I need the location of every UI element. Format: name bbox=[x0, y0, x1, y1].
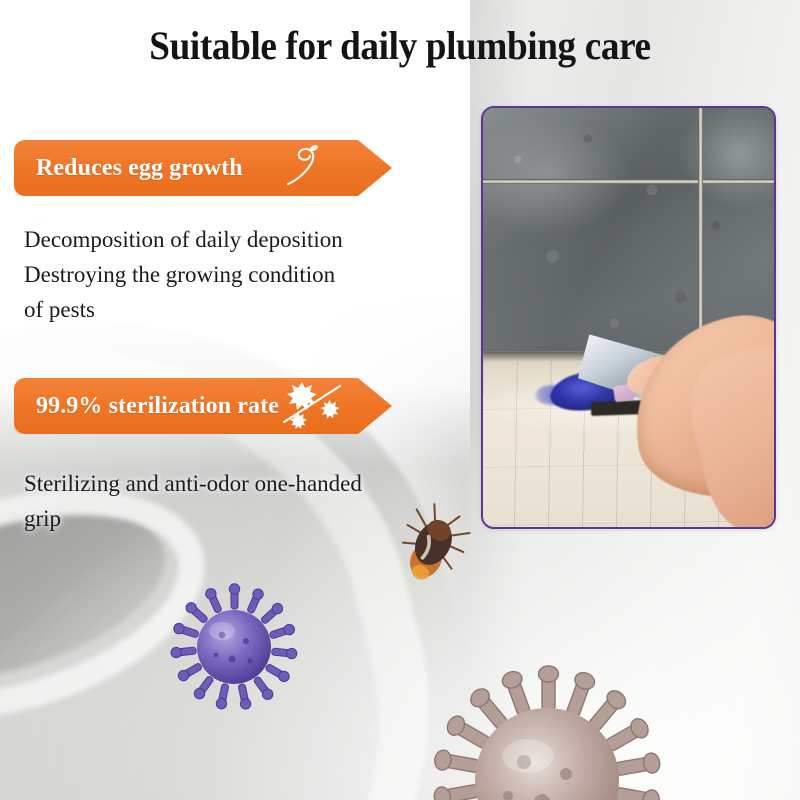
feature-banner-2-label: 99.9% sterilization rate bbox=[14, 393, 279, 420]
feature-banner-2: 99.9% sterilization rate bbox=[14, 378, 392, 434]
photo-inner bbox=[483, 108, 774, 527]
feature-description-2: Sterilizing and anti-odor one-handed gri… bbox=[24, 466, 364, 536]
horizontal-grout-line bbox=[483, 179, 774, 184]
product-usage-photo bbox=[481, 106, 776, 529]
feature-description-1: Decomposition of daily deposition Destro… bbox=[24, 222, 354, 327]
virus-particle-tan bbox=[432, 662, 662, 800]
feature-banner-1-label: Reduces egg growth bbox=[14, 155, 243, 182]
feature-banner-1: Reduces egg growth bbox=[14, 140, 392, 196]
product-feature-banner: Suitable for daily plumbing care Reduces… bbox=[0, 0, 800, 800]
virus-particle-purple bbox=[170, 583, 298, 711]
page-title: Suitable for daily plumbing care bbox=[28, 22, 772, 69]
germ-splat-icon bbox=[268, 378, 358, 434]
worm-larva-icon bbox=[268, 140, 358, 196]
